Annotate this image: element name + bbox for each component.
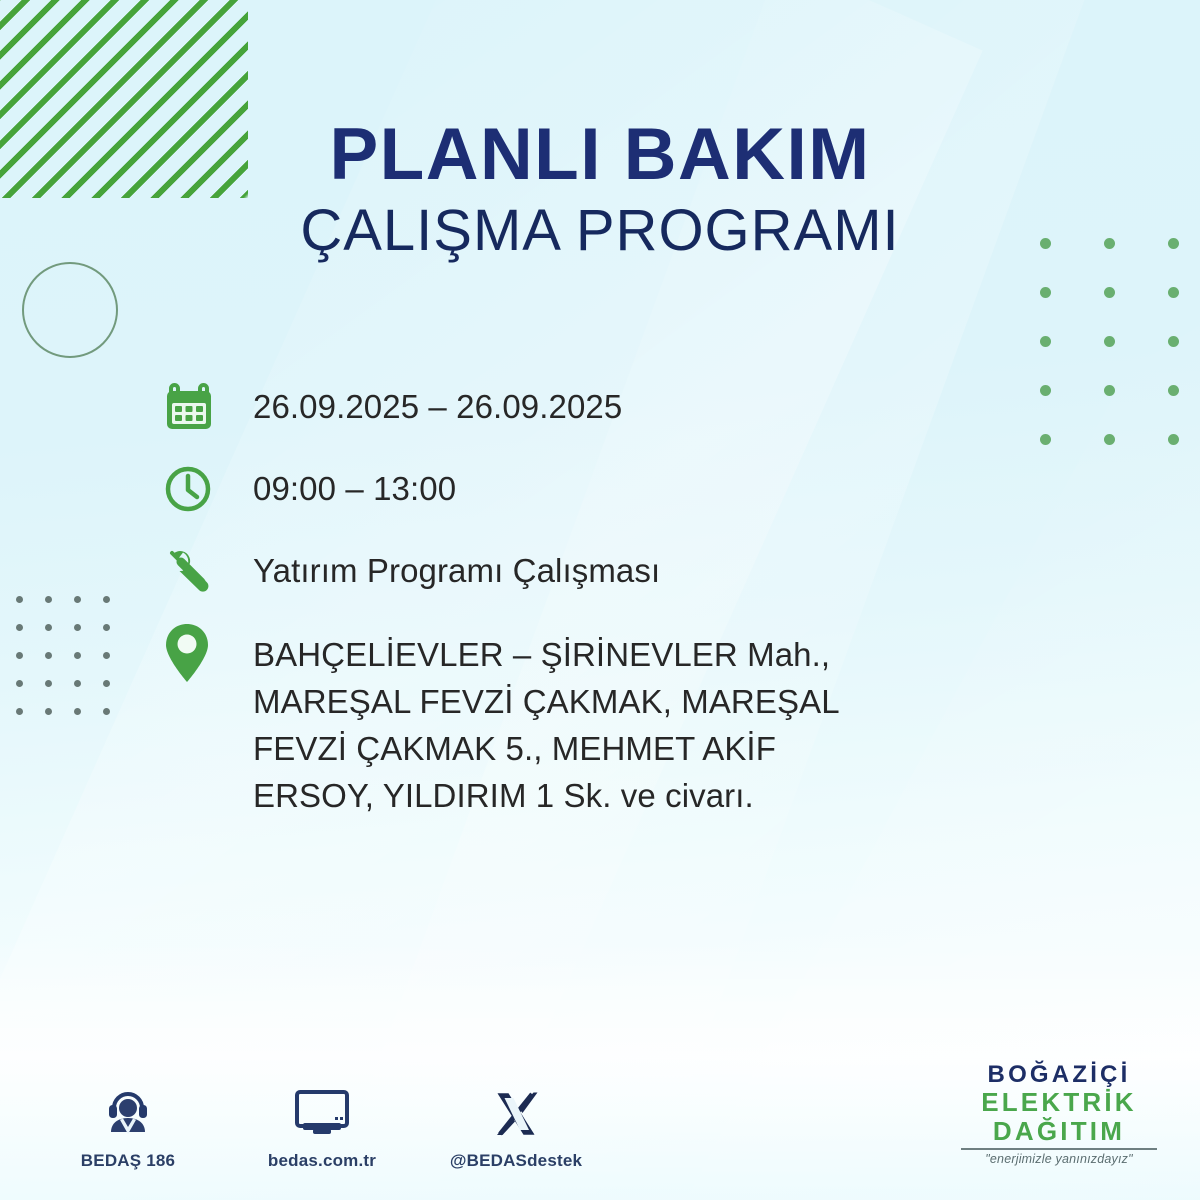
footer-label: bedas.com.tr (268, 1151, 376, 1171)
map-pin-icon (163, 624, 221, 682)
date-range-value: 26.09.2025 – 26.09.2025 (253, 378, 622, 429)
page-title: PLANLI BAKIM (0, 118, 1200, 191)
location-value: BAHÇELİEVLER – ŞİRİNEVLER Mah., MAREŞAL … (253, 624, 840, 819)
footer-item-website[interactable]: bedas.com.tr (252, 1086, 392, 1171)
poster-canvas: PLANLI BAKIM ÇALIŞMA PROGRAMI (0, 0, 1200, 1200)
footer-item-x-account[interactable]: @BEDASdestek (446, 1086, 586, 1171)
brand-line-elektrik: ELEKTRİK (944, 1088, 1174, 1117)
poster-header: PLANLI BAKIM ÇALIŞMA PROGRAMI (0, 118, 1200, 262)
location-line: ERSOY, YILDIRIM 1 Sk. ve civarı. (253, 777, 754, 814)
dot-grid-left-decoration (16, 596, 132, 736)
footer-contact-bar: BEDAŞ 186 bedas.com.tr (58, 1086, 586, 1171)
footer-label: BEDAŞ 186 (81, 1151, 175, 1171)
footer-label: @BEDASdestek (450, 1151, 582, 1171)
brand-line-bogazici: BOĞAZİÇİ (944, 1062, 1174, 1088)
footer-item-call-center[interactable]: BEDAŞ 186 (58, 1086, 198, 1171)
brand-divider (961, 1148, 1157, 1150)
info-list: 26.09.2025 – 26.09.2025 09:00 – 13:00 (163, 378, 963, 843)
info-row-work-type: Yatırım Programı Çalışması (163, 542, 963, 600)
outline-circle-decoration (22, 262, 118, 358)
brand-line-dagitim: DAĞITIM (944, 1117, 1174, 1146)
brand-logo: BOĞAZİÇİ ELEKTRİK DAĞITIM "enerjimizle y… (944, 1062, 1174, 1166)
calendar-icon (163, 378, 221, 436)
support-agent-icon (102, 1086, 154, 1142)
brand-tagline: "enerjimizle yanınızdayız" (944, 1152, 1174, 1166)
location-line: BAHÇELİEVLER – ŞİRİNEVLER Mah., (253, 636, 830, 673)
page-subtitle: ÇALIŞMA PROGRAMI (0, 201, 1200, 262)
x-twitter-icon (492, 1086, 540, 1142)
location-line: FEVZİ ÇAKMAK 5., MEHMET AKİF (253, 730, 776, 767)
info-row-time: 09:00 – 13:00 (163, 460, 963, 518)
monitor-icon (293, 1086, 351, 1142)
clock-icon (163, 460, 221, 518)
location-line: MAREŞAL FEVZİ ÇAKMAK, MAREŞAL (253, 683, 840, 720)
dot-grid-right-decoration (1040, 238, 1200, 483)
time-range-value: 09:00 – 13:00 (253, 460, 456, 511)
info-row-date: 26.09.2025 – 26.09.2025 (163, 378, 963, 436)
info-row-location: BAHÇELİEVLER – ŞİRİNEVLER Mah., MAREŞAL … (163, 624, 963, 819)
tools-icon (163, 542, 221, 600)
work-type-value: Yatırım Programı Çalışması (253, 542, 660, 593)
